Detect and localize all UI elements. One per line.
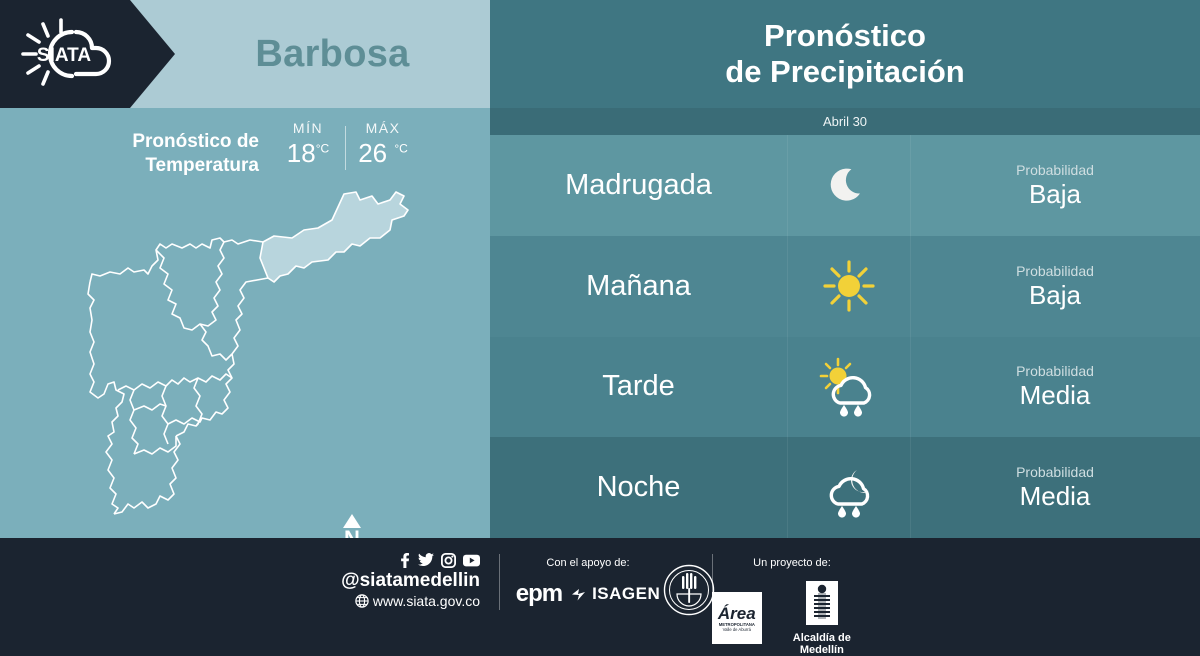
table-row: Tarde <box>490 337 1200 438</box>
max-label: MÁX <box>348 120 418 136</box>
precipitation-header: Pronóstico de Precipitación <box>490 0 1200 108</box>
forecast-date: Abril 30 <box>823 114 867 129</box>
youtube-icon[interactable] <box>463 554 480 567</box>
universidad-medellin-seal-icon <box>663 564 715 616</box>
website-line[interactable]: www.siata.gov.co <box>330 592 480 610</box>
epm-logo: epm <box>516 580 562 608</box>
probability-cell: Probabilidad Baja <box>910 162 1200 209</box>
globe-icon <box>355 594 369 608</box>
sun-rain-cloud-icon <box>814 356 884 418</box>
period-label: Tarde <box>602 370 675 403</box>
temperature-divider <box>345 126 346 170</box>
precipitation-title-line2: de Precipitación <box>725 54 964 90</box>
left-panel: SIATA Barbosa Pronóstico de Temperatura … <box>0 0 490 538</box>
probability-cell: Probabilidad Media <box>910 363 1200 410</box>
probability-cell: Probabilidad Baja <box>910 263 1200 310</box>
table-row: Madrugada Probabilidad Baja <box>490 135 1200 236</box>
period-cell: Madrugada <box>490 169 787 202</box>
social-block: @siatamedellin www.siata.gov.co <box>330 552 480 610</box>
weather-icon-cell <box>787 256 910 316</box>
column-divider <box>787 337 788 438</box>
column-divider <box>787 437 788 538</box>
temperature-title-line2: Temperatura <box>78 154 259 178</box>
temperature-block: Pronóstico de Temperatura MÍN 18°C MÁX 2… <box>78 118 418 180</box>
period-label: Noche <box>597 471 681 504</box>
alcaldia-label: Alcaldía de Medellín <box>772 632 872 656</box>
column-divider <box>910 135 911 236</box>
footer-divider <box>499 554 500 610</box>
twitter-icon[interactable] <box>418 553 434 567</box>
column-divider <box>910 437 911 538</box>
alcaldia-logo: Alcaldía de Medellín <box>772 580 872 656</box>
forecast-date-bar: Abril 30 <box>490 108 1200 135</box>
isagen-label: ISAGEN <box>592 584 660 604</box>
period-cell: Mañana <box>490 270 787 303</box>
max-value: 26 <box>358 138 387 168</box>
precipitation-title-line1: Pronóstico <box>764 18 926 54</box>
probability-value: Media <box>1020 481 1091 511</box>
temperature-values: MÍN 18°C MÁX 26 °C <box>273 118 418 170</box>
weather-icon-cell <box>787 457 910 519</box>
support-logos: epm ISAGEN <box>508 580 668 608</box>
forecast-rows: Madrugada Probabilidad Baja Mañana <box>490 135 1200 538</box>
alcaldia-crest-icon <box>805 580 839 626</box>
city-name-title: Barbosa <box>175 0 490 108</box>
instagram-icon[interactable] <box>441 553 456 568</box>
isagen-mark-icon <box>572 587 589 602</box>
infographic-canvas: SIATA Barbosa Pronóstico de Temperatura … <box>0 0 1200 630</box>
period-label: Mañana <box>586 270 691 303</box>
map-region-barbosa <box>260 192 408 282</box>
temperature-title-line1: Pronóstico de <box>78 130 259 154</box>
siata-logo-banner: SIATA <box>0 0 175 108</box>
project-block: Un proyecto de: Área METROPOLITANA Valle… <box>712 556 872 656</box>
probability-caption: Probabilidad <box>1016 162 1094 179</box>
weather-icon-cell <box>787 356 910 418</box>
max-unit: °C <box>394 141 407 155</box>
column-divider <box>787 135 788 236</box>
min-value: 18 <box>287 138 316 168</box>
min-label: MÍN <box>273 120 343 136</box>
website-url: www.siata.gov.co <box>373 592 480 610</box>
moon-icon <box>821 157 877 213</box>
facebook-icon[interactable] <box>398 553 411 568</box>
support-caption: Con el apoyo de: <box>508 556 668 570</box>
svg-text:SIATA: SIATA <box>37 45 91 66</box>
probability-value: Media <box>1020 380 1091 410</box>
support-block: Con el apoyo de: epm ISAGEN <box>508 556 668 608</box>
social-icons <box>330 552 480 568</box>
right-panel: Pronóstico de Precipitación Abril 30 Mad… <box>490 0 1200 538</box>
temperature-min: MÍN 18°C <box>273 120 343 169</box>
project-caption: Un proyecto de: <box>712 556 872 570</box>
temperature-max: MÁX 26 °C <box>348 120 418 169</box>
column-divider <box>910 337 911 438</box>
period-cell: Noche <box>490 471 787 504</box>
probability-caption: Probabilidad <box>1016 363 1094 380</box>
table-row: Noche Probabilidad Media <box>490 437 1200 538</box>
temperature-title: Pronóstico de Temperatura <box>78 118 259 178</box>
weather-icon-cell <box>787 157 910 213</box>
aburra-valley-map: N <box>60 182 440 532</box>
map-svg <box>60 182 440 532</box>
min-unit: °C <box>316 141 329 155</box>
area-metropolitana-logo: Área METROPOLITANA Valle de Aburrá <box>712 592 762 644</box>
column-divider <box>787 236 788 337</box>
probability-value: Baja <box>1029 280 1081 310</box>
sun-icon <box>819 256 879 316</box>
probability-caption: Probabilidad <box>1016 464 1094 481</box>
sun-cloud-icon: SIATA <box>14 14 130 94</box>
amva-word: Área <box>718 605 756 622</box>
isagen-logo: ISAGEN <box>572 584 660 604</box>
moon-rain-cloud-icon <box>814 457 884 519</box>
probability-cell: Probabilidad Media <box>910 464 1200 511</box>
amva-line2: Valle de Aburrá <box>723 627 751 632</box>
max-value-wrap: 26 °C <box>348 138 418 169</box>
probability-value: Baja <box>1029 179 1081 209</box>
project-logos: Área METROPOLITANA Valle de Aburrá <box>712 580 872 656</box>
probability-caption: Probabilidad <box>1016 263 1094 280</box>
social-handle[interactable]: @siatamedellin <box>330 570 480 592</box>
period-label: Madrugada <box>565 169 712 202</box>
column-divider <box>910 236 911 337</box>
table-row: Mañana <box>490 236 1200 337</box>
min-value-wrap: 18°C <box>273 138 343 169</box>
period-cell: Tarde <box>490 370 787 403</box>
